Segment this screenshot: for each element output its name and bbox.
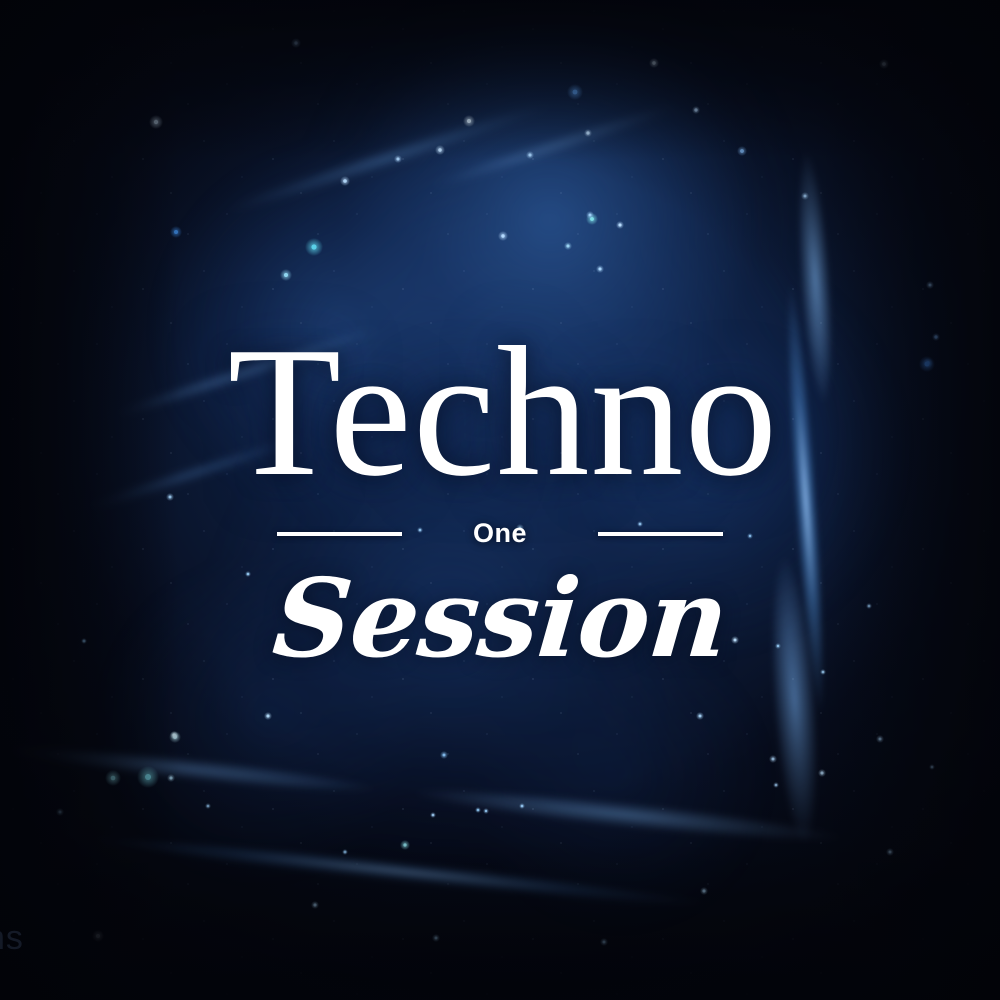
title-lockup: Techno One Session bbox=[0, 0, 1000, 1000]
horizontal-rule-right-icon bbox=[598, 532, 723, 536]
script-wordmark: Session bbox=[269, 565, 731, 673]
poster-canvas: ns Techno One Session bbox=[0, 0, 1000, 1000]
page-title: Techno bbox=[222, 327, 779, 498]
horizontal-rule-left-icon bbox=[277, 532, 402, 536]
subtitle-label: One bbox=[473, 520, 527, 547]
divider: One bbox=[277, 520, 723, 547]
